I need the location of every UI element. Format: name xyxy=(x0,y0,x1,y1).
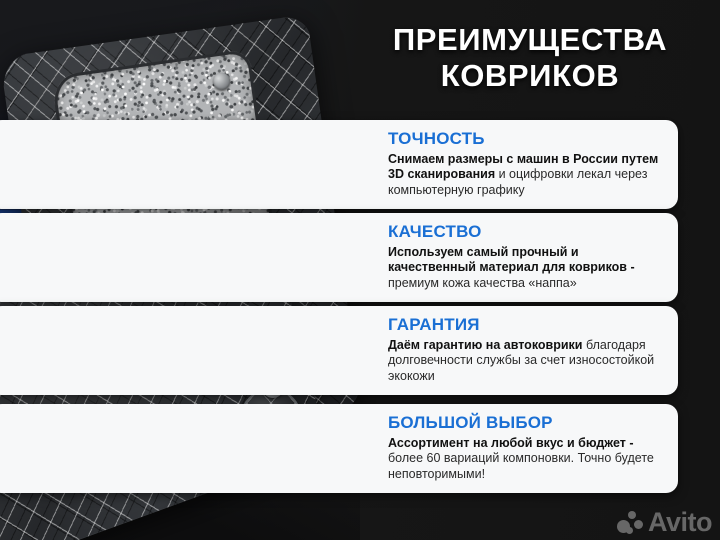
feature-card-kachestvo[interactable]: КАЧЕСТВО Используем самый прочный и каче… xyxy=(0,213,678,302)
feature-card-title: ГАРАНТИЯ xyxy=(388,315,660,335)
feature-card-title: БОЛЬШОЙ ВЫБОР xyxy=(388,413,660,433)
feature-card-body-bold: Даём гарантию на автоковрики xyxy=(388,338,583,352)
avito-wordmark: Avito xyxy=(648,509,712,536)
feature-card-body: Используем самый прочный и качественный … xyxy=(388,245,660,291)
feature-card-tochnost[interactable]: ТОЧНОСТЬ Снимаем размеры с машин в Росси… xyxy=(0,120,678,209)
feature-card-list: ТОЧНОСТЬ Снимаем размеры с машин в Росси… xyxy=(0,0,720,540)
feature-card-garantiya[interactable]: ГАРАНТИЯ Даём гарантию на автоковрики бл… xyxy=(0,306,678,395)
feature-card-body: Даём гарантию на автоковрики благодаря д… xyxy=(388,338,660,384)
feature-card-body-rest: более 60 вариаций компоновки. Точно буде… xyxy=(388,451,654,480)
avito-dots-logo-icon xyxy=(617,511,643,535)
promo-banner: ПРЕИМУЩЕСТВА КОВРИКОВ ТОЧНОСТЬ Снимаем р… xyxy=(0,0,720,540)
feature-card-body-bold: Используем самый прочный и качественный … xyxy=(388,245,635,274)
feature-card-title: КАЧЕСТВО xyxy=(388,222,660,242)
avito-watermark: Avito xyxy=(617,509,712,536)
feature-card-body-bold: Ассортимент на любой вкус и бюджет - xyxy=(388,436,634,450)
feature-card-body: Снимаем размеры с машин в России путем 3… xyxy=(388,152,660,198)
feature-card-body: Ассортимент на любой вкус и бюджет - бол… xyxy=(388,436,660,482)
feature-card-body-rest: премиум кожа качества «наппа» xyxy=(388,276,577,290)
feature-card-bolshoy-vybor[interactable]: БОЛЬШОЙ ВЫБОР Ассортимент на любой вкус … xyxy=(0,404,678,493)
feature-card-title: ТОЧНОСТЬ xyxy=(388,129,660,149)
